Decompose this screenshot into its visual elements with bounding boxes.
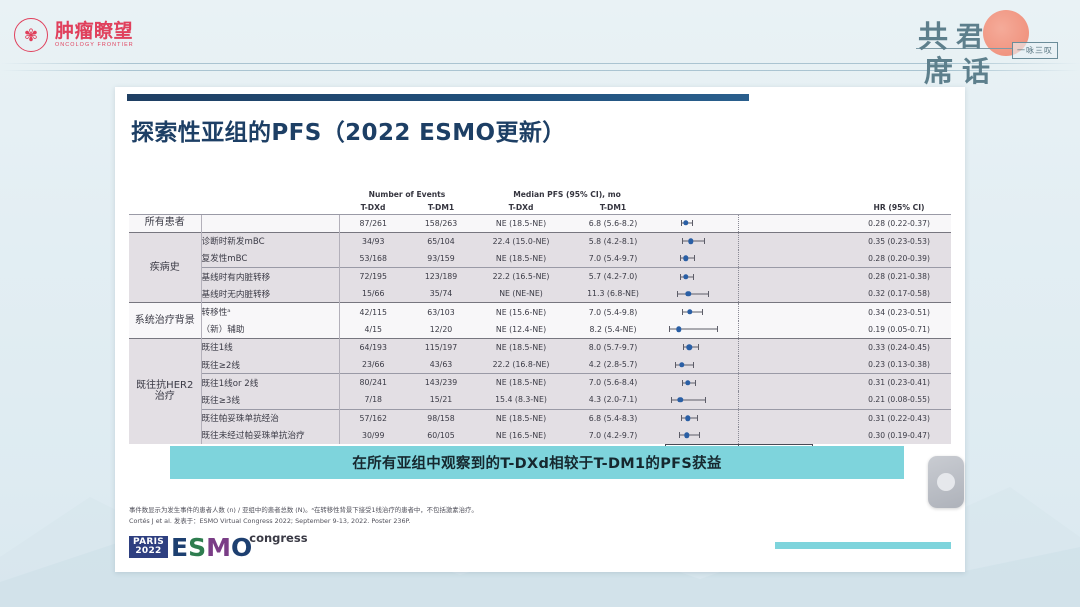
row-subgroup-label: 基线时无内脏转移	[201, 285, 339, 303]
cell-pfs-dm1: 4.2 (2.8-5.7)	[567, 356, 659, 374]
cell-hazard-ratio: 0.33 (0.24-0.45)	[847, 338, 951, 356]
esmo-congress-logo: PARIS 2022 E S M O congress	[129, 532, 308, 558]
footnote-citation: Cortés J et al. 发表于：ESMO Virtual Congres…	[129, 516, 849, 526]
cell-events-dxd: 42/115	[339, 303, 407, 321]
cell-events-dxd: 80/241	[339, 374, 407, 392]
cell-events-dxd: 34/93	[339, 232, 407, 250]
table-row: 所有患者87/261158/263NE (18.5-NE)6.8 (5.6-8.…	[129, 214, 951, 232]
cell-events-dxd: 87/261	[339, 214, 407, 232]
cell-events-dm1: 65/104	[407, 232, 475, 250]
cell-hazard-ratio: 0.32 (0.17-0.58)	[847, 285, 951, 303]
forest-plot-cell	[659, 321, 847, 339]
cell-hazard-ratio: 0.31 (0.22-0.43)	[847, 409, 951, 427]
cell-events-dxd: 64/193	[339, 338, 407, 356]
header-pfs-dxd: T-DXd	[475, 202, 567, 214]
cell-pfs-dm1: 7.0 (4.2-9.7)	[567, 427, 659, 444]
forest-plot-cell	[659, 427, 847, 444]
cell-hazard-ratio: 0.28 (0.22-0.37)	[847, 214, 951, 232]
watermark-tagline: 一咏三叹	[1012, 42, 1058, 59]
cell-events-dm1: 143/239	[407, 374, 475, 392]
table-row: 既往抗HER2治疗既往1线64/193115/197NE (18.5-NE)8.…	[129, 338, 951, 356]
table-body: 所有患者87/261158/263NE (18.5-NE)6.8 (5.6-8.…	[129, 214, 951, 444]
row-group-label: 疾病史	[129, 232, 201, 303]
row-group-label: 所有患者	[129, 214, 201, 232]
row-subgroup-label: 复发性mBC	[201, 250, 339, 268]
header-events-dm1: T-DM1	[407, 202, 475, 214]
watermark-char-4: 话	[962, 50, 990, 90]
cell-pfs-dm1: 4.3 (2.0-7.1)	[567, 391, 659, 409]
brand-name-cn: 肿瘤瞭望	[55, 22, 134, 41]
table-row: 基线时有内脏转移72/195123/18922.2 (16.5-NE)5.7 (…	[129, 268, 951, 286]
forest-plot-cell	[659, 214, 847, 232]
esmo-paris-badge: PARIS 2022	[129, 536, 168, 558]
cell-pfs-dm1: 6.8 (5.6-8.2)	[567, 214, 659, 232]
cell-events-dm1: 60/105	[407, 427, 475, 444]
cell-events-dxd: 53/168	[339, 250, 407, 268]
cell-pfs-dxd: NE (18.5-NE)	[475, 374, 567, 392]
cell-pfs-dxd: NE (15.6-NE)	[475, 303, 567, 321]
cell-pfs-dxd: NE (18.5-NE)	[475, 338, 567, 356]
esmo-year: 2022	[133, 547, 164, 556]
forest-plot-cell	[659, 268, 847, 286]
cell-pfs-dxd: NE (16.5-NE)	[475, 427, 567, 444]
cell-events-dm1: 115/197	[407, 338, 475, 356]
row-group-label: 既往抗HER2治疗	[129, 338, 201, 444]
cell-pfs-dxd: NE (18.5-NE)	[475, 250, 567, 268]
cell-pfs-dm1: 7.0 (5.4-9.7)	[567, 250, 659, 268]
cell-pfs-dxd: 22.4 (15.0-NE)	[475, 232, 567, 250]
crab-seal-icon: ✾	[14, 18, 48, 52]
cell-events-dm1: 63/103	[407, 303, 475, 321]
header-events-group: Number of Events	[339, 187, 475, 202]
footer-accent-bar	[775, 542, 951, 549]
header-pfs-group: Median PFS (95% CI), mo	[475, 187, 659, 202]
row-subgroup-label: 转移性ᵃ	[201, 303, 339, 321]
cell-hazard-ratio: 0.21 (0.08-0.55)	[847, 391, 951, 409]
esmo-congress-word: congress	[249, 533, 307, 545]
conclusion-banner: 在所有亚组中观察到的T-DXd相较于T-DM1的PFS获益	[170, 446, 904, 479]
cell-pfs-dm1: 6.8 (5.4-8.3)	[567, 409, 659, 427]
row-subgroup-label: 既往1线or 2线	[201, 374, 339, 392]
cell-pfs-dm1: 7.0 (5.6-8.4)	[567, 374, 659, 392]
cell-events-dm1: 123/189	[407, 268, 475, 286]
cell-events-dm1: 93/159	[407, 250, 475, 268]
forest-plot-table: Number of Events Median PFS (95% CI), mo…	[129, 187, 951, 444]
cell-events-dxd: 4/15	[339, 321, 407, 339]
table-row: 既往帕妥珠单抗经治57/16298/158NE (18.5-NE)6.8 (5.…	[129, 409, 951, 427]
floating-control-button[interactable]	[928, 456, 964, 508]
cell-hazard-ratio: 0.19 (0.05-0.71)	[847, 321, 951, 339]
forest-plot-table-wrapper: Number of Events Median PFS (95% CI), mo…	[129, 187, 951, 474]
cell-events-dm1: 35/74	[407, 285, 475, 303]
cell-pfs-dm1: 5.8 (4.2-8.1)	[567, 232, 659, 250]
table-row: 疾病史诊断时新发mBC34/9365/10422.4 (15.0-NE)5.8 …	[129, 232, 951, 250]
slide-card: 探索性亚组的PFS（2022 ESMO更新） Number of Events …	[115, 87, 965, 572]
cell-hazard-ratio: 0.30 (0.19-0.47)	[847, 427, 951, 444]
cell-pfs-dxd: 15.4 (8.3-NE)	[475, 391, 567, 409]
cell-events-dxd: 23/66	[339, 356, 407, 374]
brand-logo: ✾ 肿瘤瞭望 ONCOLOGY FRONTIER	[14, 18, 134, 52]
cell-hazard-ratio: 0.28 (0.21-0.38)	[847, 268, 951, 286]
cell-hazard-ratio: 0.31 (0.23-0.41)	[847, 374, 951, 392]
slide-accent-bar	[127, 94, 749, 101]
cell-hazard-ratio: 0.35 (0.23-0.53)	[847, 232, 951, 250]
cell-pfs-dm1: 5.7 (4.2-7.0)	[567, 268, 659, 286]
cell-events-dxd: 15/66	[339, 285, 407, 303]
cell-events-dm1: 15/21	[407, 391, 475, 409]
table-row: 既往≥3线7/1815/2115.4 (8.3-NE)4.3 (2.0-7.1)…	[129, 391, 951, 409]
cell-hazard-ratio: 0.34 (0.23-0.51)	[847, 303, 951, 321]
cell-pfs-dm1: 8.0 (5.7-9.7)	[567, 338, 659, 356]
forest-plot-cell	[659, 338, 847, 356]
cell-events-dxd: 7/18	[339, 391, 407, 409]
header-hr: HR (95% CI)	[847, 202, 951, 214]
row-subgroup-label: 既往未经过帕妥珠单抗治疗	[201, 427, 339, 444]
forest-plot-cell	[659, 409, 847, 427]
row-subgroup-label	[201, 214, 339, 232]
forest-plot-cell	[659, 250, 847, 268]
forest-plot-cell	[659, 391, 847, 409]
program-watermark: 共 君 席 话 一咏三叹	[912, 4, 1062, 90]
cell-events-dxd: 30/99	[339, 427, 407, 444]
table-row: 既往≥2线23/6643/6322.2 (16.8-NE)4.2 (2.8-5.…	[129, 356, 951, 374]
watermark-char-2: 君	[956, 15, 983, 54]
cell-pfs-dxd: NE (NE-NE)	[475, 285, 567, 303]
cell-pfs-dxd: NE (18.5-NE)	[475, 409, 567, 427]
cell-pfs-dm1: 7.0 (5.4-9.8)	[567, 303, 659, 321]
cell-hazard-ratio: 0.23 (0.13-0.38)	[847, 356, 951, 374]
row-subgroup-label: （新）辅助	[201, 321, 339, 339]
forest-plot-cell	[659, 356, 847, 374]
table-row: 系统治疗背景转移性ᵃ42/11563/103NE (15.6-NE)7.0 (5…	[129, 303, 951, 321]
table-row: 既往未经过帕妥珠单抗治疗30/9960/105NE (16.5-NE)7.0 (…	[129, 427, 951, 444]
esmo-letter-s: S	[188, 537, 206, 558]
cell-events-dm1: 158/263	[407, 214, 475, 232]
forest-plot-cell	[659, 303, 847, 321]
row-subgroup-label: 既往1线	[201, 338, 339, 356]
header-pfs-dm1: T-DM1	[567, 202, 659, 214]
control-dot-icon	[937, 473, 955, 491]
header-events-dxd: T-DXd	[339, 202, 407, 214]
esmo-letter-m: M	[206, 537, 231, 558]
row-group-label: 系统治疗背景	[129, 303, 201, 338]
page-title: 探索性亚组的PFS（2022 ESMO更新）	[131, 113, 566, 147]
cell-hazard-ratio: 0.28 (0.20-0.39)	[847, 250, 951, 268]
row-subgroup-label: 既往≥2线	[201, 356, 339, 374]
table-row: 复发性mBC53/16893/159NE (18.5-NE)7.0 (5.4-9…	[129, 250, 951, 268]
cell-events-dm1: 98/158	[407, 409, 475, 427]
cell-pfs-dxd: NE (18.5-NE)	[475, 214, 567, 232]
cell-pfs-dxd: 22.2 (16.5-NE)	[475, 268, 567, 286]
table-row: 既往1线or 2线80/241143/239NE (18.5-NE)7.0 (5…	[129, 374, 951, 392]
cell-events-dm1: 43/63	[407, 356, 475, 374]
esmo-letter-e: E	[171, 537, 188, 558]
row-subgroup-label: 既往≥3线	[201, 391, 339, 409]
cell-events-dxd: 72/195	[339, 268, 407, 286]
footnote-methods: 事件数显示为发生事件的患者人数 (n) / 亚组中的患者总数 (N)。ᵃ在转移性…	[129, 505, 849, 515]
row-subgroup-label: 既往帕妥珠单抗经治	[201, 409, 339, 427]
forest-plot-cell	[659, 232, 847, 250]
watermark-char-3: 席	[924, 48, 953, 90]
cell-pfs-dxd: NE (12.4-NE)	[475, 321, 567, 339]
cell-pfs-dxd: 22.2 (16.8-NE)	[475, 356, 567, 374]
cell-pfs-dm1: 8.2 (5.4-NE)	[567, 321, 659, 339]
cell-pfs-dm1: 11.3 (6.8-NE)	[567, 285, 659, 303]
row-subgroup-label: 基线时有内脏转移	[201, 268, 339, 286]
table-row: （新）辅助4/1512/20NE (12.4-NE)8.2 (5.4-NE)0.…	[129, 321, 951, 339]
table-row: 基线时无内脏转移15/6635/74NE (NE-NE)11.3 (6.8-NE…	[129, 285, 951, 303]
forest-plot-cell	[659, 285, 847, 303]
cell-events-dxd: 57/162	[339, 409, 407, 427]
row-subgroup-label: 诊断时新发mBC	[201, 232, 339, 250]
esmo-wordmark: E S M O congress	[171, 533, 308, 559]
brand-name-en: ONCOLOGY FRONTIER	[55, 43, 134, 48]
cell-events-dm1: 12/20	[407, 321, 475, 339]
forest-plot-cell	[659, 374, 847, 392]
table-header: Number of Events Median PFS (95% CI), mo…	[129, 187, 951, 214]
